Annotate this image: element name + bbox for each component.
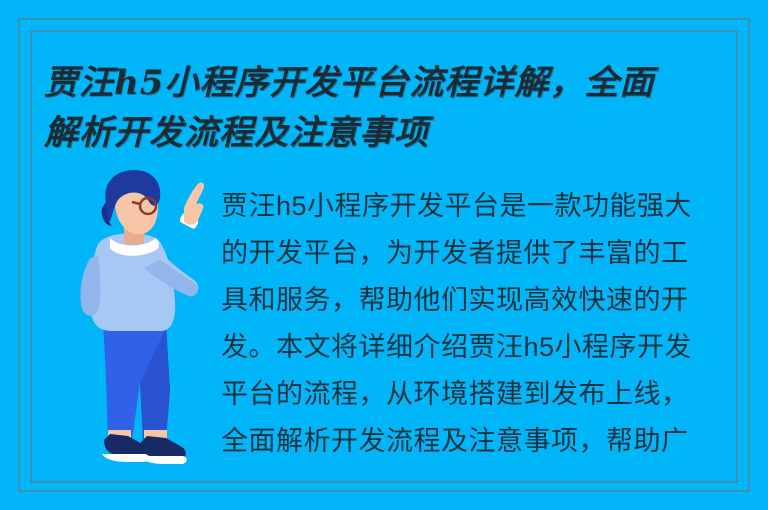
man-pointing-illustration [48, 168, 218, 468]
right-shoe-sole [139, 456, 187, 464]
article-body-text: 贾汪h5小程序开发平台是一款功能强大 的开发平台，为开发者提供了丰富的工 具和服… [221, 183, 726, 465]
poster-canvas: 贾汪h5小程序开发平台流程详解，全面 解析开发流程及注意事项 [0, 0, 768, 510]
pointing-hand [184, 182, 204, 224]
right-shoe [141, 436, 186, 458]
page-title: 贾汪h5小程序开发平台流程详解，全面 解析开发流程及注意事项 [44, 58, 704, 158]
left-shoe [104, 434, 148, 456]
sweater-left-arm [80, 256, 100, 316]
